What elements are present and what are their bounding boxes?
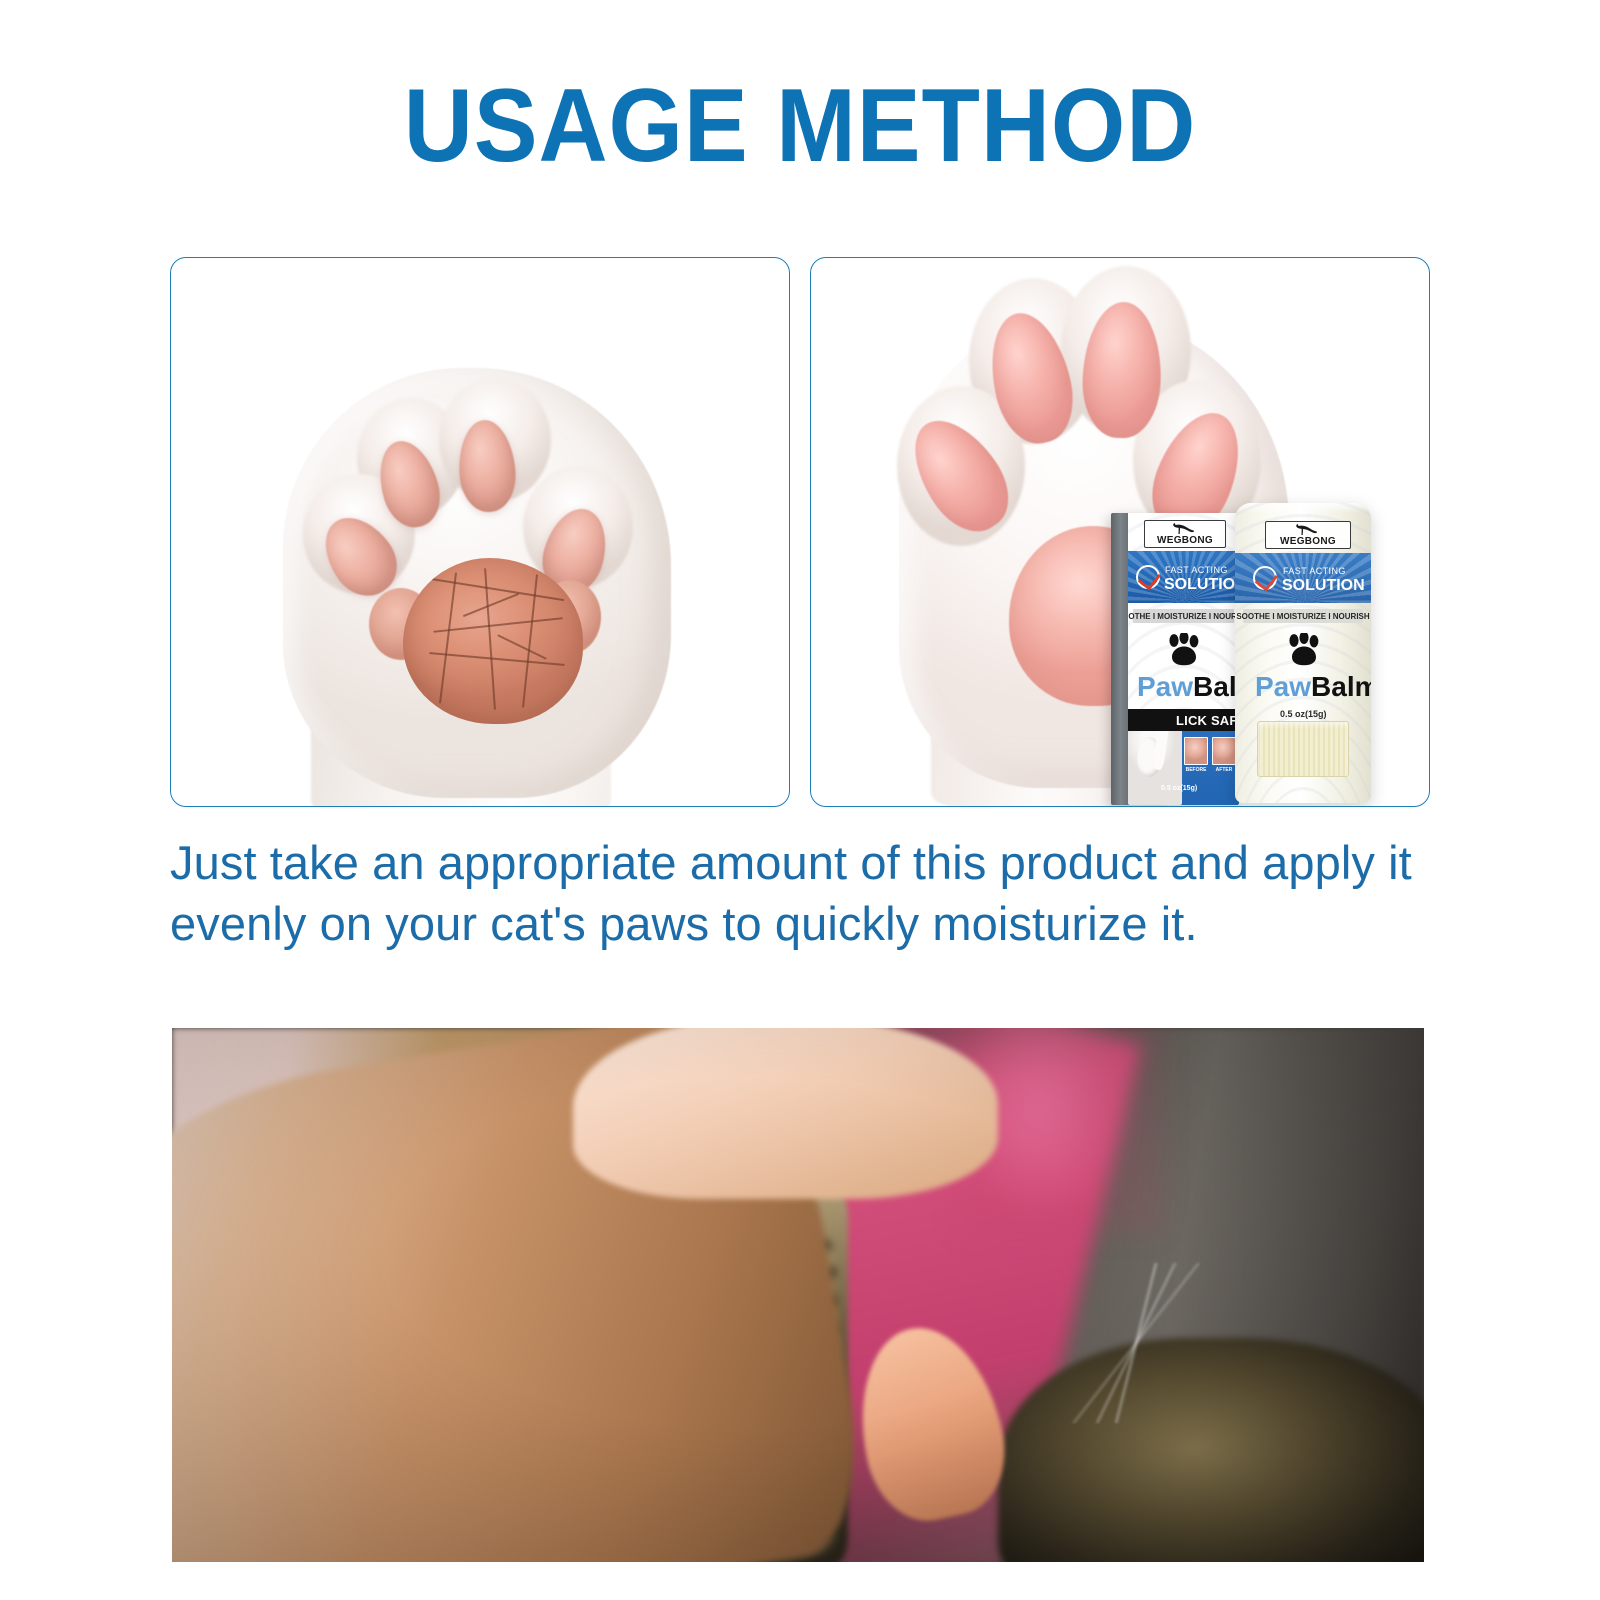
stick-net-weight: 0.5 oz(15g): [1280, 709, 1327, 719]
photo-vignette: [172, 1028, 1424, 1562]
badge-fast-acting: FAST ACTING: [1283, 567, 1346, 576]
product-name: PawBalm: [1137, 673, 1239, 701]
paw-print-icon: [1285, 633, 1323, 672]
brand-name: WEGBONG: [1157, 536, 1213, 547]
before-thumbnail: [1184, 737, 1208, 765]
brand-logo: WEGBONG: [1265, 521, 1351, 549]
badge-solution: SOLUTION: [1282, 578, 1365, 594]
before-label: BEFORE: [1182, 767, 1210, 773]
after-paw-photo: WEGBONG FAST ACTING SOLUTION SOOTHE I MO…: [811, 258, 1429, 806]
product-name: PawBalm: [1255, 673, 1371, 701]
product-name-paw: Paw: [1255, 671, 1311, 702]
product-carton: WEGBONG FAST ACTING SOLUTION SOOTHE I MO…: [1111, 513, 1239, 805]
product-name-paw: Paw: [1137, 671, 1193, 702]
paw-print-icon: [1165, 633, 1203, 672]
before-paw-photo: [171, 258, 789, 806]
balm-window: [1257, 721, 1349, 777]
fast-acting-solution-badge: FAST ACTING SOLUTION: [1128, 551, 1239, 603]
brand-name: WEGBONG: [1280, 537, 1336, 548]
caption-line-2: evenly on your cat's paws to quickly moi…: [170, 893, 1420, 954]
fast-acting-solution-badge: FAST ACTING SOLUTION: [1235, 553, 1371, 603]
product-name-balm: Balm: [1311, 671, 1371, 702]
cat-silhouette-icon: [1294, 523, 1318, 536]
after-paw-card: WEGBONG FAST ACTING SOLUTION SOOTHE I MO…: [810, 257, 1430, 807]
product-pack: WEGBONG FAST ACTING SOLUTION SOOTHE I MO…: [1111, 503, 1411, 806]
benefits-strip: SOOTHE I MOISTURIZE I NOURISH: [1243, 609, 1363, 623]
product-name-balm: Balm: [1193, 671, 1239, 702]
badge-fast-acting: FAST ACTING: [1165, 566, 1228, 575]
comparison-photo-row: WEGBONG FAST ACTING SOLUTION SOOTHE I MO…: [170, 257, 1430, 807]
benefits-strip: SOOTHE I MOISTURIZE I NOURISH: [1133, 609, 1234, 623]
carton-side-panel: [1111, 513, 1128, 805]
after-label: AFTER: [1211, 767, 1237, 773]
red-check-circle-icon: [1136, 565, 1160, 589]
before-after-promo: BEFORE AFTER 0.5 oz(15g): [1128, 731, 1239, 805]
carton-net-weight: 0.5 oz(15g): [1161, 785, 1197, 792]
applying-balm-lifestyle-photo: [172, 1028, 1424, 1562]
usage-caption: Just take an appropriate amount of this …: [170, 832, 1420, 954]
product-stick: WEGBONG FAST ACTING SOLUTION SOOTHE I MO…: [1235, 503, 1371, 803]
stick-cap-highlight: [1235, 503, 1371, 513]
brand-logo: WEGBONG: [1144, 520, 1226, 548]
carton-front-panel: WEGBONG FAST ACTING SOLUTION SOOTHE I MO…: [1128, 513, 1239, 805]
page-title: USAGE METHOD: [64, 72, 1536, 181]
caption-line-1: Just take an appropriate amount of this …: [170, 832, 1420, 893]
before-paw-card: [170, 257, 790, 807]
red-check-circle-icon: [1253, 566, 1277, 590]
lick-safe-banner: LICK SAFE: [1128, 709, 1239, 731]
badge-solution: SOLUTION: [1164, 577, 1239, 593]
cracked-paw-pad: [403, 558, 583, 724]
cat-silhouette-icon: [1171, 522, 1195, 535]
after-thumbnail: [1212, 737, 1236, 765]
promo-cat-photo: [1128, 731, 1182, 805]
